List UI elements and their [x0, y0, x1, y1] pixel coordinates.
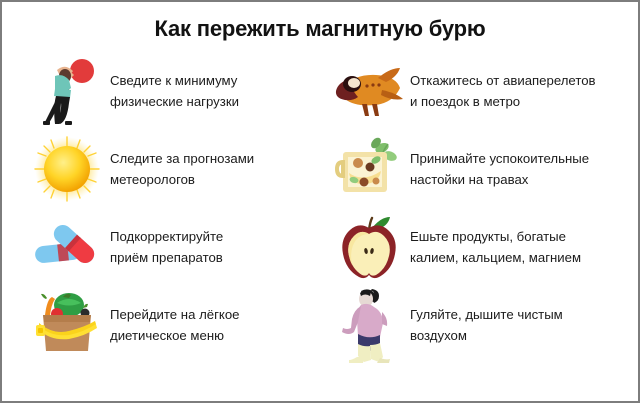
tip-item: Подкорректируйте приём препаратов — [30, 208, 320, 286]
tip-text: Подкорректируйте приём препаратов — [104, 226, 223, 268]
tip-text: Принимайте успокоительные настойки на тр… — [406, 148, 589, 190]
tip-item: Гуляйте, дышите чистым воздухом — [332, 286, 638, 364]
woman-exercising-with-ball-icon — [30, 54, 104, 128]
tip-item: Принимайте успокоительные настойки на тр… — [332, 130, 638, 208]
tips-column-right: Откажитесь от авиаперелетов и поездок в … — [320, 52, 638, 364]
tip-item: Следите за прогнозами метеорологов — [30, 130, 320, 208]
herbal-tea-mug-icon — [332, 132, 406, 206]
tip-item: Ешьте продукты, богатые калием, кальцием… — [332, 208, 638, 286]
tips-columns: Сведите к минимуму физические нагрузки — [2, 44, 638, 364]
tip-item: Перейдите на лёгкое диетическое меню — [30, 286, 320, 364]
tip-item: Откажитесь от авиаперелетов и поездок в … — [332, 52, 638, 130]
pills-capsules-icon — [30, 210, 104, 284]
tip-text: Ешьте продукты, богатые калием, кальцием… — [406, 226, 581, 268]
infographic-card: Как пережить магнитную бурю — [0, 0, 640, 403]
apple-half-icon — [332, 210, 406, 284]
tip-text: Сведите к минимуму физические нагрузки — [104, 70, 239, 112]
airplane-icon — [332, 54, 406, 128]
tips-column-left: Сведите к минимуму физические нагрузки — [2, 52, 320, 364]
tip-text: Перейдите на лёгкое диетическое меню — [104, 304, 240, 346]
grocery-bag-measuring-tape-icon — [30, 288, 104, 362]
walking-person-icon — [332, 288, 406, 362]
tip-text: Следите за прогнозами метеорологов — [104, 148, 254, 190]
tip-item: Сведите к минимуму физические нагрузки — [30, 52, 320, 130]
tip-text: Откажитесь от авиаперелетов и поездок в … — [406, 70, 596, 112]
sun-icon — [30, 132, 104, 206]
tip-text: Гуляйте, дышите чистым воздухом — [406, 304, 563, 346]
page-title: Как пережить магнитную бурю — [2, 2, 638, 44]
